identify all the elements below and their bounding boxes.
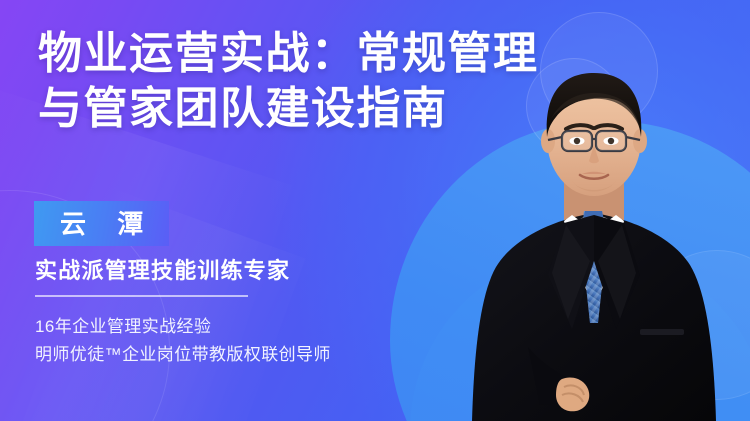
- speaker-role: 实战派管理技能训练专家: [35, 260, 290, 282]
- section-divider: [35, 295, 248, 297]
- course-title-line-2: 与管家团队建设指南: [38, 81, 658, 136]
- poster-content: 物业运营实战：常规管理 与管家团队建设指南 云 潭 实战派管理技能训练专家 16…: [0, 0, 750, 421]
- credential-item: 明师优徒™企业岗位带教版权联创导师: [35, 341, 455, 369]
- course-cover-poster: 物业运营实战：常规管理 与管家团队建设指南 云 潭 实战派管理技能训练专家 16…: [0, 0, 750, 421]
- speaker-credentials: 16年企业管理实战经验 明师优徒™企业岗位带教版权联创导师: [35, 313, 455, 369]
- course-title-line-1: 物业运营实战：常规管理: [38, 26, 658, 81]
- speaker-name: 云 潭: [48, 211, 155, 237]
- speaker-name-badge: 云 潭: [34, 201, 169, 246]
- course-title: 物业运营实战：常规管理 与管家团队建设指南: [38, 26, 658, 137]
- credential-item: 16年企业管理实战经验: [35, 313, 455, 341]
